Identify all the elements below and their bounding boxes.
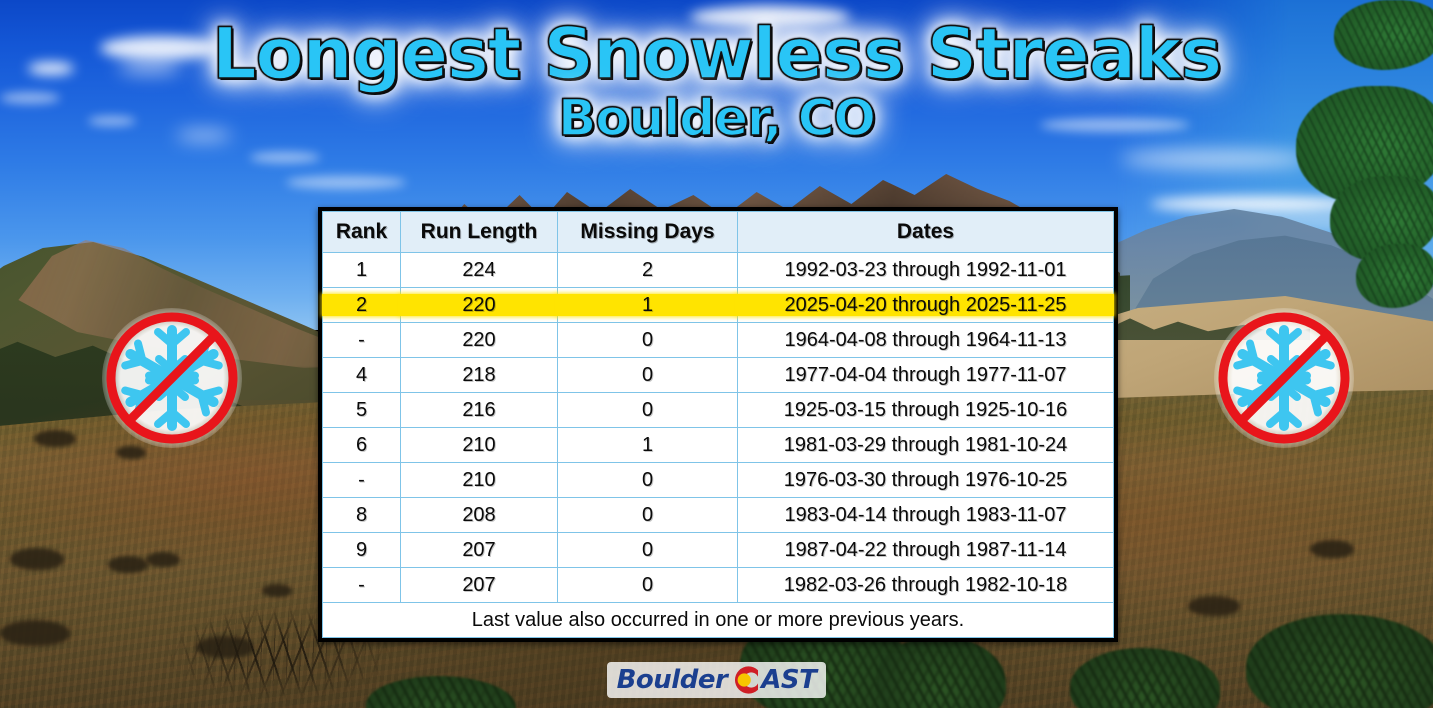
rank-cell: 1 xyxy=(323,253,401,288)
cloud xyxy=(88,116,136,126)
run-length-cell: 207 xyxy=(401,533,558,568)
cloud xyxy=(176,130,232,141)
cloud xyxy=(250,152,320,163)
table-row[interactable]: 920701987-04-22 through 1987-11-14 xyxy=(323,533,1114,568)
run-length-cell: 218 xyxy=(401,358,558,393)
shrub xyxy=(1188,596,1240,616)
cloud xyxy=(0,92,60,104)
cloud xyxy=(1150,196,1360,212)
missing-days-cell: 1 xyxy=(558,288,738,323)
run-length-cell: 216 xyxy=(401,393,558,428)
rank-cell: - xyxy=(323,463,401,498)
no-snow-icon xyxy=(102,308,242,448)
missing-days-cell: 1 xyxy=(558,428,738,463)
table-header-row: Rank Run Length Missing Days Dates xyxy=(323,212,1114,253)
dates-cell: 1964-04-08 through 1964-11-13 xyxy=(738,323,1114,358)
column-header-missing-days[interactable]: Missing Days xyxy=(558,212,738,253)
missing-days-cell: 0 xyxy=(558,533,738,568)
cloud xyxy=(1040,118,1190,132)
dates-cell: 1987-04-22 through 1987-11-14 xyxy=(738,533,1114,568)
dates-cell: 2025-04-20 through 2025-11-25 xyxy=(738,288,1114,323)
shrub xyxy=(1310,540,1354,558)
table-row[interactable]: -20701982-03-26 through 1982-10-18 xyxy=(323,568,1114,603)
table-footnote: Last value also occurred in one or more … xyxy=(323,603,1114,638)
rank-cell: 4 xyxy=(323,358,401,393)
table-row[interactable]: -21001976-03-30 through 1976-10-25 xyxy=(323,463,1114,498)
dates-cell: 1976-03-30 through 1976-10-25 xyxy=(738,463,1114,498)
rank-cell: 5 xyxy=(323,393,401,428)
missing-days-cell: 0 xyxy=(558,323,738,358)
missing-days-cell: 2 xyxy=(558,253,738,288)
missing-days-cell: 0 xyxy=(558,498,738,533)
run-length-cell: 220 xyxy=(401,288,558,323)
rank-cell: 2 xyxy=(323,288,401,323)
cloud xyxy=(118,60,182,74)
missing-days-cell: 0 xyxy=(558,463,738,498)
run-length-cell: 224 xyxy=(401,253,558,288)
cloud xyxy=(286,176,406,189)
missing-days-cell: 0 xyxy=(558,393,738,428)
table-row[interactable]: 421801977-04-04 through 1977-11-07 xyxy=(323,358,1114,393)
rank-cell: 6 xyxy=(323,428,401,463)
ranking-table: Rank Run Length Missing Days Dates 12242… xyxy=(322,211,1114,638)
run-length-cell: 210 xyxy=(401,463,558,498)
column-header-rank[interactable]: Rank xyxy=(323,212,401,253)
cloud xyxy=(760,28,880,44)
rank-cell: 8 xyxy=(323,498,401,533)
run-length-cell: 210 xyxy=(401,428,558,463)
no-snow-icon-right xyxy=(1214,308,1354,448)
cloud xyxy=(1120,150,1310,168)
no-snow-icon-left xyxy=(102,308,242,448)
table-row[interactable]: -22001964-04-08 through 1964-11-13 xyxy=(323,323,1114,358)
pine-bough xyxy=(1356,244,1433,308)
no-snow-icon xyxy=(1214,308,1354,448)
column-header-run-length[interactable]: Run Length xyxy=(401,212,558,253)
table-row[interactable]: 820801983-04-14 through 1983-11-07 xyxy=(323,498,1114,533)
rank-cell: - xyxy=(323,568,401,603)
dates-cell: 1983-04-14 through 1983-11-07 xyxy=(738,498,1114,533)
run-length-cell: 220 xyxy=(401,323,558,358)
rank-cell: - xyxy=(323,323,401,358)
infographic-stage: Longest Snowless Streaks Boulder, CO xyxy=(0,0,1433,708)
table-footer-row: Last value also occurred in one or more … xyxy=(323,603,1114,638)
shrub xyxy=(34,430,76,447)
run-length-cell: 208 xyxy=(401,498,558,533)
dates-cell: 1925-03-15 through 1925-10-16 xyxy=(738,393,1114,428)
run-length-cell: 207 xyxy=(401,568,558,603)
table-row[interactable]: 621011981-03-29 through 1981-10-24 xyxy=(323,428,1114,463)
dates-cell: 1981-03-29 through 1981-10-24 xyxy=(738,428,1114,463)
dates-cell: 1977-04-04 through 1977-11-07 xyxy=(738,358,1114,393)
missing-days-cell: 0 xyxy=(558,568,738,603)
missing-days-cell: 0 xyxy=(558,358,738,393)
foreground-pine-shrub xyxy=(1246,614,1433,708)
dates-cell: 1992-03-23 through 1992-11-01 xyxy=(738,253,1114,288)
cloud xyxy=(100,36,220,60)
cloud xyxy=(690,6,850,28)
shrub xyxy=(146,552,180,567)
table-row[interactable]: 122421992-03-23 through 1992-11-01 xyxy=(323,253,1114,288)
shrub xyxy=(108,556,148,573)
pine-bough xyxy=(1334,0,1433,70)
shrub xyxy=(0,620,70,646)
dates-cell: 1982-03-26 through 1982-10-18 xyxy=(738,568,1114,603)
ranking-table-card: Rank Run Length Missing Days Dates 12242… xyxy=(318,207,1118,642)
table-row[interactable]: 521601925-03-15 through 1925-10-16 xyxy=(323,393,1114,428)
cloud xyxy=(28,62,74,75)
table-row-highlighted[interactable]: 222012025-04-20 through 2025-11-25 xyxy=(323,288,1114,323)
rank-cell: 9 xyxy=(323,533,401,568)
column-header-dates[interactable]: Dates xyxy=(738,212,1114,253)
table-body: 122421992-03-23 through 1992-11-01222012… xyxy=(323,253,1114,603)
shrub xyxy=(10,548,64,570)
